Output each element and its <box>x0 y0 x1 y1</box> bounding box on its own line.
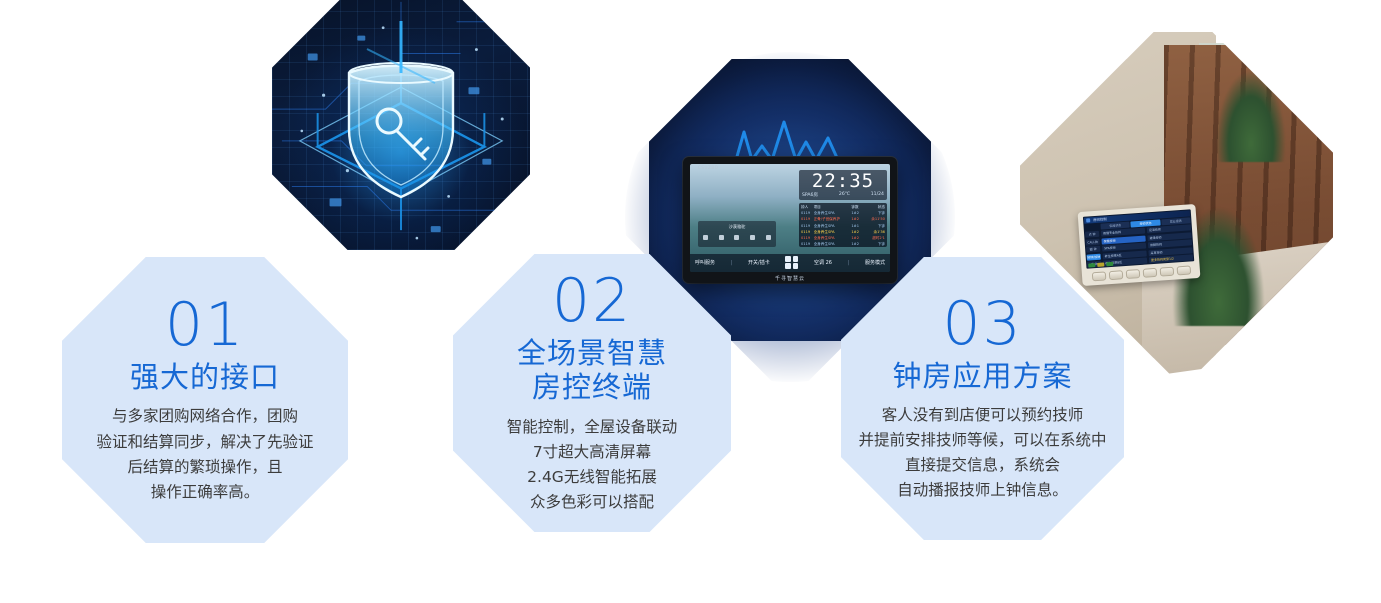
card-description-line: 直接提交信息，系统会 <box>818 453 1148 478</box>
next-icon <box>734 235 739 240</box>
card-description-line: 验证和结算同步，解决了先验证 <box>55 430 355 455</box>
plant-foliage <box>1216 70 1287 162</box>
card-title-line: 房控终端 <box>442 370 742 404</box>
panel-side-button-selected[interactable]: 转钟/加钟 <box>1086 253 1100 260</box>
status-indicator-yellow <box>1097 263 1104 267</box>
weather-label: 26℃ <box>839 192 850 198</box>
card-description-line: 自动播报技师上钟信息。 <box>818 478 1148 503</box>
card-title-line: 强大的接口 <box>55 360 355 394</box>
toolbar-divider: | <box>731 260 733 266</box>
card-description: 智能控制，全屋设备联动 7寸超大高清屏幕 2.4G无线智能拓展 众多色彩可以搭配 <box>442 415 742 515</box>
card-description-line: 2.4G无线智能拓展 <box>442 465 742 490</box>
play-icon <box>719 235 724 240</box>
card-description-line: 7寸超大高清屏幕 <box>442 440 742 465</box>
infographic-stage: CSUZBO 22:35 SPA6房 26℃ 11/24 钟人 项目 <box>0 0 1381 603</box>
room-label: SPA6房 <box>802 192 818 198</box>
panel-button[interactable] <box>1176 266 1191 276</box>
card-description-line: 与多家团购网络合作，团购 <box>55 404 355 429</box>
panel-button[interactable] <box>1159 267 1174 277</box>
panel-side-button[interactable]: CALL钟 <box>1085 238 1099 245</box>
player-track-title: 沙漠骆驼 <box>698 221 776 230</box>
toolbar-divider: | <box>848 260 850 266</box>
card-title: 强大的接口 <box>55 360 355 394</box>
panel-side-button[interactable]: 点 钟 <box>1085 231 1099 238</box>
card-description: 与多家团购网络合作，团购 验证和结算同步，解决了先验证 后结算的繁琐操作，且 操… <box>55 404 355 504</box>
panel-button[interactable] <box>1091 271 1106 281</box>
status-indicator-green <box>1088 263 1095 267</box>
shield-lock-icon <box>301 21 501 231</box>
panel-button[interactable] <box>1125 269 1140 279</box>
list-icon <box>766 235 771 240</box>
panel-hardware-buttons[interactable] <box>1086 265 1194 282</box>
toolbar-service-mode: 服务模式 <box>865 259 885 266</box>
status-indicator-green <box>1106 262 1113 266</box>
tablet-bottom-toolbar: 呼叫服务 | 开关/插卡 空调 26 | 服务模式 <box>690 254 890 272</box>
card-number: 01 <box>55 295 355 356</box>
card-description-line: 智能控制，全屋设备联动 <box>442 415 742 440</box>
panel-screen[interactable]: 房间控制 包厢状态 技师状态 营业报表 点 钟 CALL钟 圈 钟 转钟/加钟 … <box>1083 209 1194 268</box>
panel-button[interactable] <box>1108 270 1123 280</box>
music-player-widget: 沙漠骆驼 <box>698 221 776 247</box>
prev-icon <box>703 235 708 240</box>
card-description-line: 客人没有到店便可以预约技师 <box>818 403 1148 428</box>
card-description-line: 后结算的繁琐操作，且 <box>55 455 355 480</box>
toolbar-call-service: 呼叫服务 <box>695 259 715 266</box>
card-description-line: 并提前安排技师等候，可以在系统中 <box>818 428 1148 453</box>
wall-control-panel[interactable]: 房间控制 包厢状态 技师状态 营业报表 点 钟 CALL钟 圈 钟 转钟/加钟 … <box>1077 204 1200 286</box>
apps-grid-icon <box>785 256 798 269</box>
card-title-line: 钟房应用方案 <box>818 359 1148 393</box>
clock-time: 22:35 <box>802 172 884 191</box>
table-row: 0119 全身养生SPA 1#2 下钟 <box>801 241 885 247</box>
tablet-logo: 千寻智慧云 <box>683 275 897 282</box>
card-description-line: 操作正确率高。 <box>55 480 355 505</box>
player-controls <box>698 230 776 240</box>
service-table: 钟人 项目 钟数 状态 0119 全身养生SPA 1#2 下钟 0119 <box>799 203 887 247</box>
panel-button[interactable] <box>1142 268 1157 278</box>
date-label: 11/24 <box>871 192 884 198</box>
card-title-line: 全场景智慧 <box>442 336 742 370</box>
tablet-brand-label: CSUZBO <box>698 165 718 170</box>
panel-side-button[interactable]: 圈 钟 <box>1086 246 1100 253</box>
card-description: 客人没有到店便可以预约技师 并提前安排技师等候，可以在系统中 直接提交信息，系统… <box>818 403 1148 503</box>
toolbar-aircon: 空调 26 <box>814 259 832 266</box>
volume-icon <box>750 235 755 240</box>
card-description-line: 众多色彩可以搭配 <box>442 490 742 515</box>
toolbar-switch-card: 开关/插卡 <box>748 259 770 266</box>
clock-widget: 22:35 SPA6房 26℃ 11/24 <box>799 170 887 200</box>
tablet-screen: CSUZBO 22:35 SPA6房 26℃ 11/24 钟人 项目 <box>690 164 890 272</box>
card-title: 全场景智慧 房控终端 <box>442 336 742 404</box>
tablet-device: CSUZBO 22:35 SPA6房 26℃ 11/24 钟人 项目 <box>683 157 897 283</box>
feature-card-01[interactable]: 01 强大的接口 与多家团购网络合作，团购 验证和结算同步，解决了先验证 后结算… <box>3 198 407 602</box>
card-title: 钟房应用方案 <box>818 359 1148 393</box>
